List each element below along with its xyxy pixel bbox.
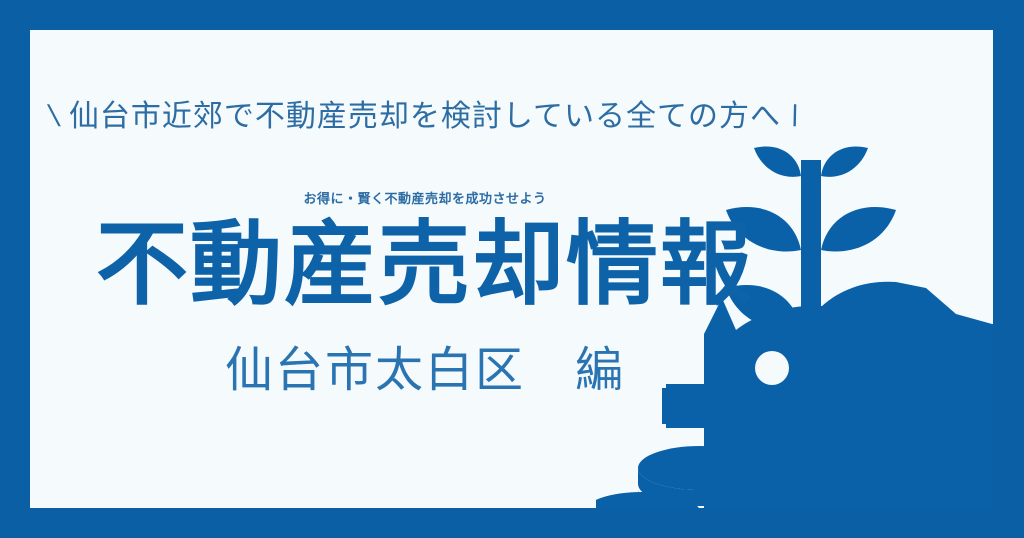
- area-subtitle: 仙台市太白区 編: [30, 345, 820, 398]
- slash-right-decoration: /: [777, 100, 815, 133]
- slash-left-decoration: \: [35, 100, 73, 133]
- page-title: 不動産売却情報: [30, 216, 820, 315]
- inner-panel: \仙台市近郊で不動産売却を検討している全ての方へ/ お得に・賢く不動産売却を成功…: [30, 30, 993, 508]
- subtitle: お得に・賢く不動産売却を成功させよう: [30, 188, 820, 207]
- headline-text: 仙台市近郊で不動産売却を検討している全ての方へ: [69, 100, 781, 133]
- banner-image: \仙台市近郊で不動産売却を検討している全ての方へ/ お得に・賢く不動産売却を成功…: [0, 0, 1024, 538]
- headline: \仙台市近郊で不動産売却を検討している全ての方へ/: [30, 100, 820, 133]
